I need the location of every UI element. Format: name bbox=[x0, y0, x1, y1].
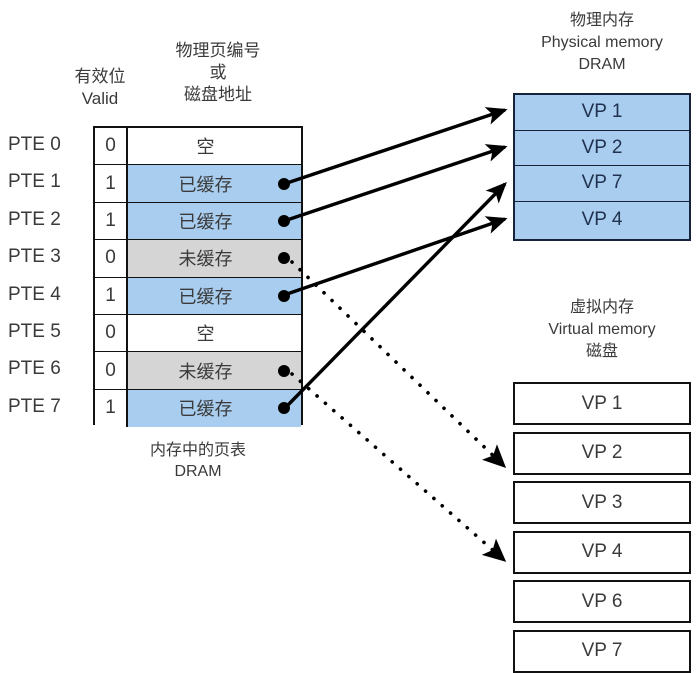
pte-row-label: PTE 2 bbox=[8, 201, 90, 238]
pte-valid-bit: 0 bbox=[95, 315, 128, 351]
physical-page-frame[interactable]: VP 1 bbox=[515, 95, 689, 131]
pte-value-text: 空 bbox=[197, 133, 215, 159]
pte-row-label: PTE 7 bbox=[8, 388, 90, 425]
pte-row-label: PTE 6 bbox=[8, 350, 90, 387]
ppn-header-line1: 物理页编号 bbox=[133, 40, 303, 62]
pte-valid-bit: 1 bbox=[95, 203, 128, 239]
pte-value-cell: 已缓存 bbox=[128, 390, 301, 427]
pte-valid-bit: 0 bbox=[95, 240, 128, 276]
diagram-canvas: 有效位 Valid 物理页编号 或 磁盘地址 PTE 0PTE 1PTE 2PT… bbox=[0, 0, 700, 658]
page-table-row[interactable]: 0空 bbox=[95, 128, 301, 165]
page-table-row[interactable]: 0未缓存 bbox=[95, 352, 301, 389]
valid-header-cn: 有效位 bbox=[72, 66, 128, 88]
pte-value-cell: 空 bbox=[128, 128, 301, 164]
pte-row-label: PTE 1 bbox=[8, 163, 90, 200]
arrow-pte6-to-vp6-disk bbox=[292, 374, 504, 560]
physical-page-frame[interactable]: VP 4 bbox=[515, 202, 689, 238]
pte-valid-bit: 1 bbox=[95, 165, 128, 201]
pointer-dot-icon bbox=[278, 178, 290, 190]
pte-value-text: 未缓存 bbox=[179, 245, 233, 271]
pte-value-text: 已缓存 bbox=[179, 208, 233, 234]
arrow-pte2-to-vp2 bbox=[287, 147, 505, 220]
arrow-pte4-to-vp4 bbox=[287, 219, 505, 294]
pte-value-text: 已缓存 bbox=[179, 395, 233, 421]
virtual-page-block[interactable]: VP 1 bbox=[513, 382, 691, 425]
page-table-row[interactable]: 1已缓存 bbox=[95, 203, 301, 240]
arrow-pte1-to-vp1 bbox=[287, 110, 505, 183]
virtual-memory-caption: 虚拟内存 Virtual memory 磁盘 bbox=[513, 297, 691, 363]
virtual-page-block[interactable]: VP 6 bbox=[513, 580, 691, 623]
pte-valid-bit: 1 bbox=[95, 390, 128, 427]
pte-value-cell: 未缓存 bbox=[128, 352, 301, 388]
pte-value-text: 已缓存 bbox=[179, 283, 233, 309]
pte-valid-bit: 1 bbox=[95, 278, 128, 314]
virtual-page-block[interactable]: VP 2 bbox=[513, 432, 691, 475]
virtmem-caption-cn: 虚拟内存 bbox=[513, 297, 691, 319]
arrow-pte7-to-vp7 bbox=[287, 184, 505, 406]
pte-row-label: PTE 4 bbox=[8, 276, 90, 313]
virtmem-caption-en: Virtual memory bbox=[513, 319, 691, 341]
page-table-row[interactable]: 1已缓存 bbox=[95, 278, 301, 315]
pte-row-label: PTE 5 bbox=[8, 313, 90, 350]
virtual-page-block[interactable]: VP 4 bbox=[513, 531, 691, 574]
page-table: 0空1已缓存1已缓存0未缓存1已缓存0空0未缓存1已缓存 bbox=[93, 126, 303, 425]
pte-row-label: PTE 0 bbox=[8, 126, 90, 163]
physmem-caption-sub: DRAM bbox=[513, 54, 691, 76]
virtmem-caption-sub: 磁盘 bbox=[513, 341, 691, 363]
pointer-dot-icon bbox=[278, 365, 290, 377]
page-table-caption-en: DRAM bbox=[93, 461, 303, 482]
pte-valid-bit: 0 bbox=[95, 352, 128, 388]
pointer-dot-icon bbox=[278, 252, 290, 264]
virtual-page-block[interactable]: VP 7 bbox=[513, 630, 691, 673]
physical-page-frame[interactable]: VP 7 bbox=[515, 166, 689, 202]
page-table-caption-cn: 内存中的页表 bbox=[93, 440, 303, 461]
pte-name-column: PTE 0PTE 1PTE 2PTE 3PTE 4PTE 5PTE 6PTE 7 bbox=[8, 126, 90, 425]
physical-memory-block: VP 1VP 2VP 7VP 4 bbox=[513, 93, 691, 241]
physmem-caption-en: Physical memory bbox=[513, 32, 691, 54]
pte-value-cell: 已缓存 bbox=[128, 165, 301, 201]
pte-value-cell: 已缓存 bbox=[128, 278, 301, 314]
pointer-dot-icon bbox=[278, 290, 290, 302]
virtual-page-block[interactable]: VP 3 bbox=[513, 481, 691, 524]
page-table-ppn-header: 物理页编号 或 磁盘地址 bbox=[133, 40, 303, 106]
page-table-row[interactable]: 1已缓存 bbox=[95, 390, 301, 427]
pointer-dot-icon bbox=[278, 215, 290, 227]
pointer-dot-icon bbox=[278, 402, 290, 414]
page-table-row[interactable]: 1已缓存 bbox=[95, 165, 301, 202]
pte-value-cell: 空 bbox=[128, 315, 301, 351]
pte-value-cell: 已缓存 bbox=[128, 203, 301, 239]
page-table-row[interactable]: 0未缓存 bbox=[95, 240, 301, 277]
pte-value-text: 已缓存 bbox=[179, 171, 233, 197]
physmem-caption-cn: 物理内存 bbox=[513, 10, 691, 32]
pte-row-label: PTE 3 bbox=[8, 238, 90, 275]
arrow-pte3-to-vp3-disk bbox=[292, 262, 504, 466]
page-table-row[interactable]: 0空 bbox=[95, 315, 301, 352]
virtual-memory-block: VP 1VP 2VP 3VP 4VP 6VP 7 bbox=[513, 382, 691, 673]
pte-value-text: 未缓存 bbox=[179, 358, 233, 384]
physical-page-frame[interactable]: VP 2 bbox=[515, 131, 689, 167]
ppn-header-line2: 或 bbox=[133, 62, 303, 84]
page-table-caption: 内存中的页表 DRAM bbox=[93, 440, 303, 482]
pte-value-cell: 未缓存 bbox=[128, 240, 301, 276]
physical-memory-caption: 物理内存 Physical memory DRAM bbox=[513, 10, 691, 76]
pte-valid-bit: 0 bbox=[95, 128, 128, 164]
ppn-header-line3: 磁盘地址 bbox=[133, 84, 303, 106]
pte-value-text: 空 bbox=[197, 320, 215, 346]
page-table-valid-header: 有效位 Valid bbox=[72, 66, 128, 110]
valid-header-en: Valid bbox=[72, 88, 128, 110]
